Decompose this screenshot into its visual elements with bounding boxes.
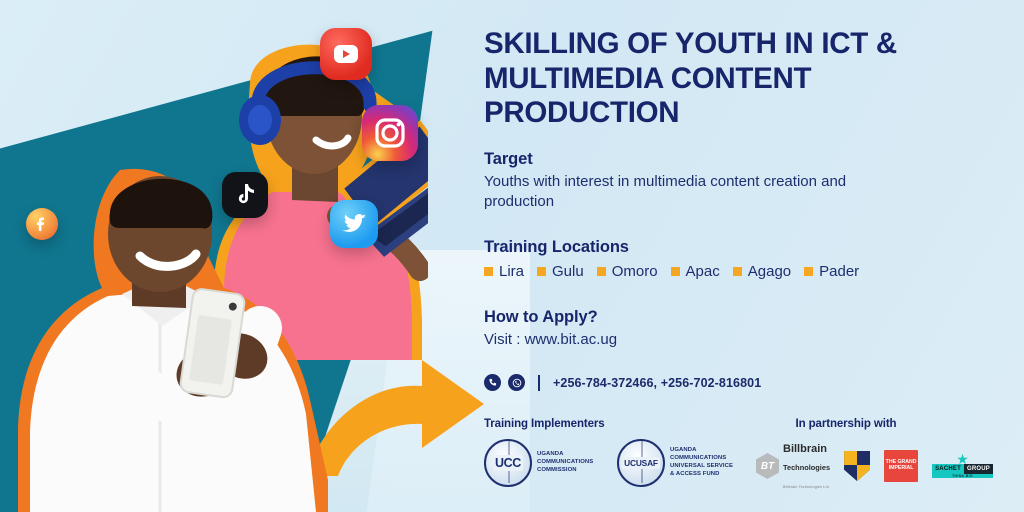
red-square-text: THE GRAND IMPERIAL <box>884 460 918 471</box>
footer: Training Implementers UCC UGANDA COMMUNI… <box>484 418 1024 512</box>
tiktok-icon <box>222 172 268 218</box>
sachet-left-text: SACHET <box>932 464 964 474</box>
billbrain-text: Billbrain Technologies Billbrain Technol… <box>783 439 830 493</box>
red-square-logo: THE GRAND IMPERIAL <box>884 450 918 482</box>
ucusaf-caption: UGANDA COMMUNICATIONS UNIVERSAL SERVICE … <box>670 447 736 478</box>
square-bullet-icon <box>484 267 493 276</box>
training-locations-heading: Training Locations <box>484 238 859 257</box>
crest-quadrant <box>844 465 857 481</box>
shield-crest-logo <box>844 451 870 481</box>
billbrain-logo: BT Billbrain Technologies Billbrain Tech… <box>756 439 830 493</box>
billbrain-hex-icon: BT <box>756 453 779 479</box>
location-label: Apac <box>686 263 720 280</box>
ucusaf-mark: UCUSAF <box>622 457 660 469</box>
sachet-group-logo: ★ SACHET GROUP THINK BIG <box>932 455 993 478</box>
partners-group: In partnership with BT Billbrain Technol… <box>756 418 993 493</box>
crest-quadrant <box>857 465 870 481</box>
facebook-icon <box>26 208 58 240</box>
square-bullet-icon <box>597 267 606 276</box>
location-item: Apac <box>671 263 720 280</box>
target-heading: Target <box>484 150 894 169</box>
twitter-icon <box>330 200 378 248</box>
ucc-caption: UGANDA COMMUNICATIONS COMMISSION <box>537 451 603 474</box>
location-item: Agago <box>733 263 791 280</box>
ucc-logo: UCC UGANDA COMMUNICATIONS COMMISSION <box>484 439 603 487</box>
billbrain-sub: Technologies <box>783 463 830 472</box>
content-column: SKILLING OF YOUTH IN ICT & MULTIMEDIA CO… <box>484 0 1014 512</box>
partner-logos: BT Billbrain Technologies Billbrain Tech… <box>756 439 993 493</box>
phone-icon <box>484 374 501 391</box>
location-label: Gulu <box>552 263 584 280</box>
training-implementers-group: Training Implementers UCC UGANDA COMMUNI… <box>484 418 736 487</box>
location-item: Pader <box>804 263 859 280</box>
apply-website[interactable]: Visit : www.bit.ac.ug <box>484 330 617 350</box>
phone-numbers: +256-784-372466, +256-702-816801 <box>553 376 761 390</box>
sachet-caption: THINK BIG <box>932 474 993 478</box>
location-label: Pader <box>819 263 859 280</box>
contact-row: +256-784-372466, +256-702-816801 <box>484 374 761 391</box>
billbrain-tiny: Billbrain Technologies Ltd <box>783 485 829 489</box>
billbrain-mark: BT <box>761 461 774 472</box>
sachet-bar: SACHET GROUP <box>932 464 993 474</box>
how-to-apply-section: How to Apply? Visit : www.bit.ac.ug <box>484 308 617 350</box>
ucc-mark: UCC <box>493 455 523 471</box>
star-icon: ★ <box>956 455 969 464</box>
training-locations-section: Training Locations Lira Gulu Omoro Apac <box>484 238 859 280</box>
target-body: Youths with interest in multimedia conte… <box>484 172 894 211</box>
location-item: Lira <box>484 263 524 280</box>
location-label: Lira <box>499 263 524 280</box>
training-locations-list: Lira Gulu Omoro Apac Agago <box>484 263 859 280</box>
square-bullet-icon <box>733 267 742 276</box>
location-item: Gulu <box>537 263 584 280</box>
promotional-banner: SKILLING OF YOUTH IN ICT & MULTIMEDIA CO… <box>0 0 1024 512</box>
implementer-logos: UCC UGANDA COMMUNICATIONS COMMISSION UCU… <box>484 439 736 487</box>
crest-quadrant <box>857 451 870 467</box>
ucusaf-logo: UCUSAF UGANDA COMMUNICATIONS UNIVERSAL S… <box>617 439 736 487</box>
how-to-apply-heading: How to Apply? <box>484 308 617 327</box>
billbrain-name: Billbrain <box>783 443 827 455</box>
page-title: SKILLING OF YOUTH IN ICT & MULTIMEDIA CO… <box>484 27 914 131</box>
youtube-icon <box>320 28 372 80</box>
divider <box>538 375 540 391</box>
sachet-right-text: GROUP <box>964 464 993 474</box>
man-with-smartphone-image <box>10 160 340 512</box>
target-section: Target Youths with interest in multimedi… <box>484 150 894 211</box>
ucc-seal-icon: UCC <box>484 439 532 487</box>
training-implementers-label: Training Implementers <box>484 418 736 430</box>
instagram-icon <box>362 105 418 161</box>
location-label: Omoro <box>612 263 658 280</box>
location-item: Omoro <box>597 263 658 280</box>
ucusaf-seal-icon: UCUSAF <box>617 439 665 487</box>
square-bullet-icon <box>537 267 546 276</box>
square-bullet-icon <box>671 267 680 276</box>
whatsapp-icon <box>508 374 525 391</box>
partners-label: In partnership with <box>756 418 936 430</box>
crest-quadrant <box>844 451 857 467</box>
square-bullet-icon <box>804 267 813 276</box>
location-label: Agago <box>748 263 791 280</box>
